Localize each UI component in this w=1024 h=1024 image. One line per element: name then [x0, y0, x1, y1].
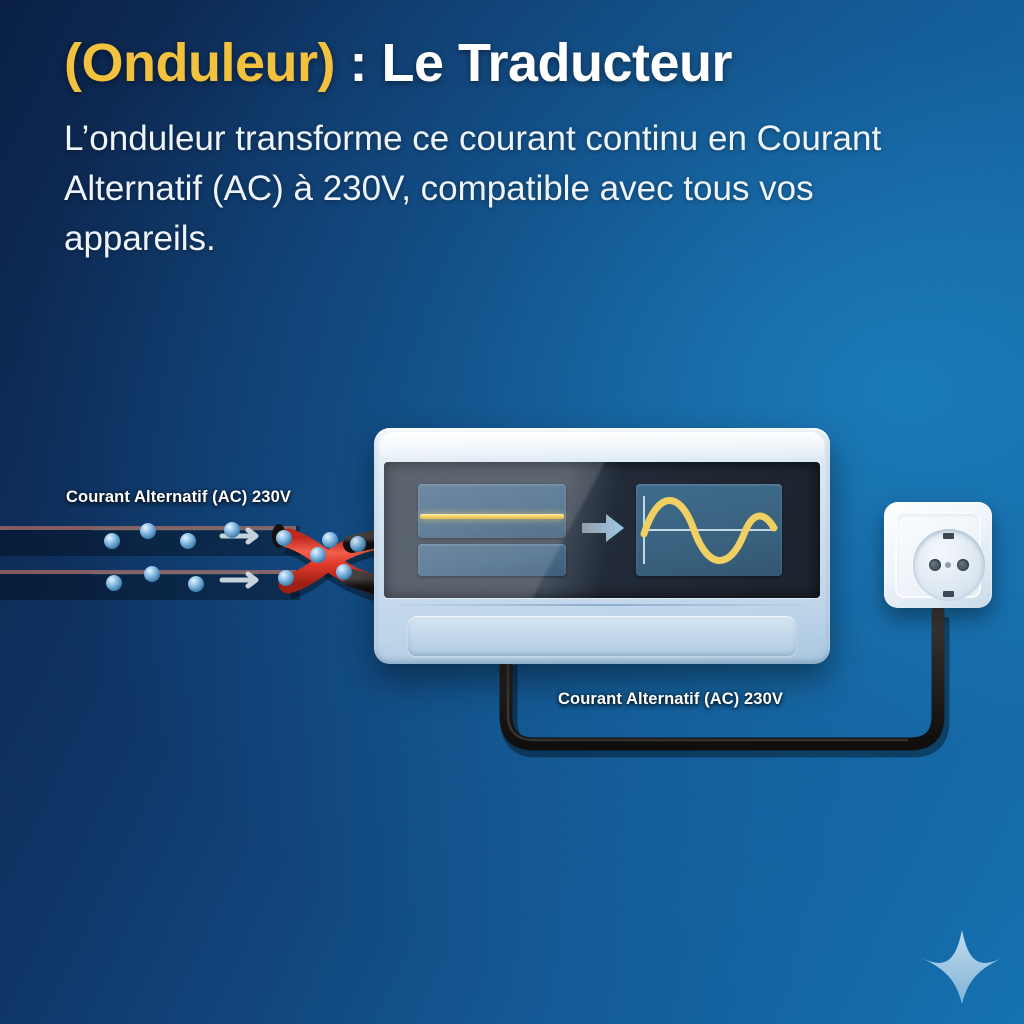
infographic-canvas: (Onduleur) : Le Traducteur L’onduleur tr… [0, 0, 1024, 1024]
inverter-seam [382, 604, 822, 606]
sparkle-icon [922, 930, 1002, 1004]
output-current-label: Courant Alternatif (AC) 230V [558, 690, 783, 709]
outlet-earth-clip-top [943, 533, 954, 539]
outlet-pin-center [945, 562, 951, 568]
outlet-recess [913, 529, 985, 601]
outlet-faceplate [895, 512, 981, 598]
wall-outlet[interactable] [884, 502, 992, 608]
display-glare [384, 462, 820, 598]
inverter-display [384, 462, 820, 598]
inverter-device[interactable] [374, 428, 830, 664]
outlet-earth-clip-bottom [943, 591, 954, 597]
input-current-label: Courant Alternatif (AC) 230V [66, 488, 291, 507]
outlet-pin-right [957, 559, 969, 571]
inverter-vent-panel [408, 616, 796, 656]
diagram-scene: Courant Alternatif (AC) 230V Courant Alt… [0, 0, 1024, 1024]
inverter-top-sheen [380, 432, 824, 458]
outlet-pin-left [929, 559, 941, 571]
